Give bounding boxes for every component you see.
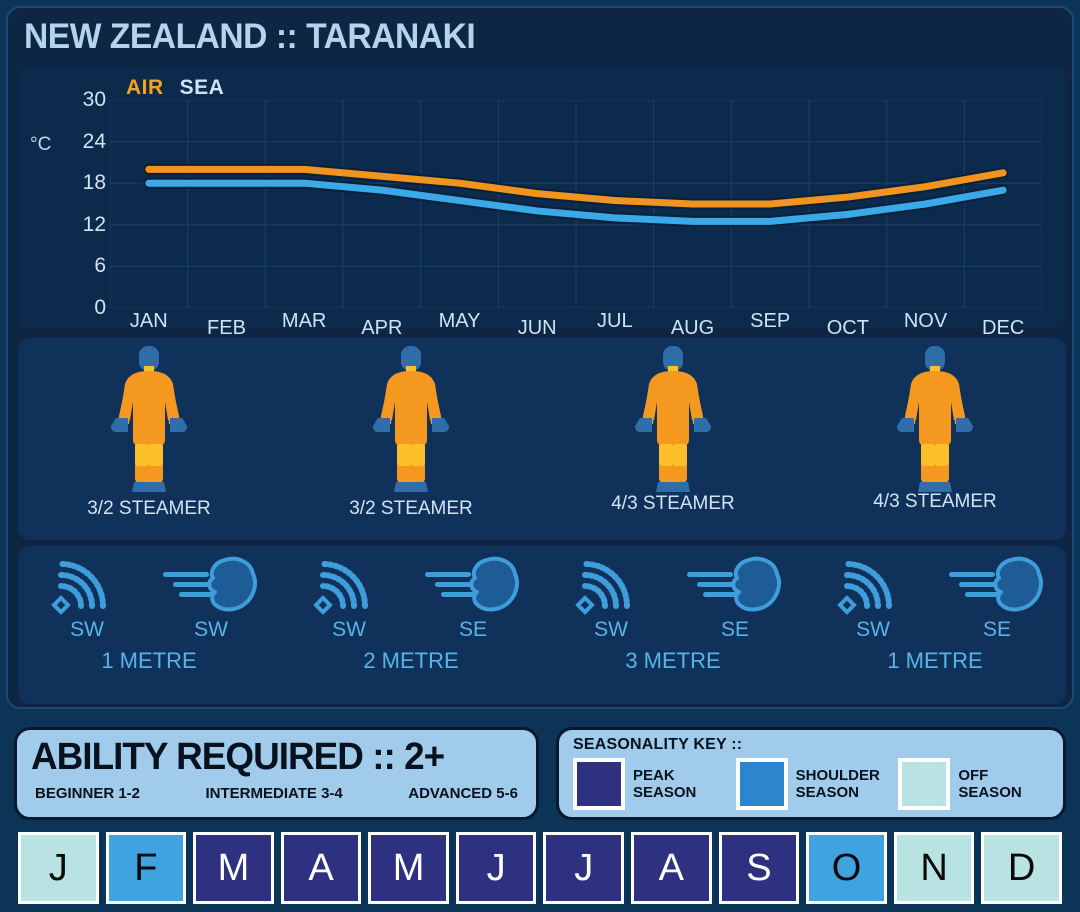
ability-required-box: ABILITY REQUIRED :: 2+ BEGINNER 1-2INTER…: [14, 727, 539, 820]
swell-wind-grid: SWSW1 METRESWSE2 METRESWSE3 METRESWSE1 M…: [18, 546, 1066, 704]
condition-quarter: SWSE2 METRE: [280, 546, 542, 704]
seasonality-key-line1: OFF: [958, 767, 1021, 784]
seasonality-key-line2: SEASON: [633, 784, 696, 801]
infographic-root: NEW ZEALAND :: TARANAKI AIR SEA °C 06121…: [0, 0, 1080, 912]
wetsuit-cell: 3/2 STEAMER: [18, 338, 280, 540]
seasonality-key-text: OFFSEASON: [958, 767, 1021, 802]
seasonality-key-items: PEAKSEASONSHOULDERSEASONOFFSEASON: [573, 758, 1051, 810]
seasonality-key-text: PEAKSEASON: [633, 767, 696, 802]
month-cell-peak[interactable]: J: [456, 832, 537, 904]
x-tick-label: JAN: [130, 310, 168, 333]
wetsuit-figure-icon: [892, 344, 978, 494]
seasonality-key-text: SHOULDERSEASON: [796, 767, 880, 802]
ability-title: ABILITY REQUIRED :: 2+: [31, 736, 507, 779]
swell-waves-icon: [837, 554, 909, 616]
month-cell-peak[interactable]: A: [281, 832, 362, 904]
x-tick-label: NOV: [904, 310, 947, 333]
wind-block: SE: [957, 554, 1037, 642]
chart-x-axis: JANFEBMARAPRMAYJUNJULAUGSEPOCTNOVDEC: [110, 310, 1042, 336]
x-tick-label: JUN: [518, 317, 557, 340]
swell-size-label: 2 METRE: [363, 648, 458, 674]
wetsuit-label: 3/2 STEAMER: [87, 498, 211, 520]
page-title: NEW ZEALAND :: TARANAKI: [24, 17, 475, 57]
swell-size-label: 1 METRE: [887, 648, 982, 674]
y-tick-label: 12: [83, 213, 106, 237]
month-cell-off[interactable]: D: [981, 832, 1062, 904]
wind-block: SE: [695, 554, 775, 642]
month-cell-off[interactable]: N: [894, 832, 975, 904]
swell-waves-icon: [51, 554, 123, 616]
wind-block: SE: [433, 554, 513, 642]
wind-direction-label: SW: [194, 618, 228, 642]
legend-sea-label: SEA: [180, 76, 225, 100]
wetsuit-label: 3/2 STEAMER: [349, 498, 473, 520]
swell-direction-label: SW: [594, 618, 628, 642]
month-season-strip: JFMAMJJASOND: [18, 832, 1062, 904]
swell-direction-label: SW: [70, 618, 104, 642]
wind-direction-label: SE: [983, 618, 1011, 642]
wetsuit-label: 4/3 STEAMER: [873, 491, 997, 513]
month-cell-shoulder[interactable]: F: [106, 832, 187, 904]
condition-quarter: SWSW1 METRE: [18, 546, 280, 704]
x-tick-label: AUG: [671, 317, 714, 340]
seasonality-key-line2: SEASON: [796, 784, 880, 801]
x-tick-label: MAR: [282, 310, 326, 333]
wind-block: SW: [171, 554, 251, 642]
seasonality-key-line2: SEASON: [958, 784, 1021, 801]
wind-cloud-icon: [687, 554, 783, 616]
x-tick-label: SEP: [750, 310, 790, 333]
wetsuit-cell: 4/3 STEAMER: [804, 338, 1066, 540]
swell-waves-icon: [313, 554, 385, 616]
temperature-chart-panel: AIR SEA °C 0612182430 JANFEBMARAPRMAYJUN…: [18, 66, 1066, 328]
x-tick-label: FEB: [207, 317, 246, 340]
ability-level: BEGINNER 1-2: [35, 785, 140, 802]
wetsuit-grid: 3/2 STEAMER3/2 STEAMER4/3 STEAMER4/3 STE…: [18, 338, 1066, 540]
wetsuit-figure-icon: [106, 344, 192, 494]
swell-size-label: 3 METRE: [625, 648, 720, 674]
wetsuit-figure-icon: [630, 344, 716, 494]
wind-cloud-icon: [163, 554, 259, 616]
seasonality-key-item: SHOULDERSEASON: [736, 758, 889, 810]
month-cell-peak[interactable]: M: [193, 832, 274, 904]
wind-cloud-icon: [425, 554, 521, 616]
seasonality-key-item: PEAKSEASON: [573, 758, 726, 810]
seasonality-key-title: SEASONALITY KEY ::: [573, 736, 1051, 754]
main-card: NEW ZEALAND :: TARANAKI AIR SEA °C 06121…: [6, 6, 1074, 709]
title-bar: NEW ZEALAND :: TARANAKI: [8, 8, 1072, 66]
x-tick-label: MAY: [439, 310, 481, 333]
ability-levels: BEGINNER 1-2INTERMEDIATE 3-4ADVANCED 5-6: [31, 785, 522, 802]
month-cell-shoulder[interactable]: O: [806, 832, 887, 904]
wind-direction-label: SE: [459, 618, 487, 642]
legend-air-label: AIR: [126, 76, 164, 100]
y-tick-label: 0: [94, 296, 106, 320]
y-tick-label: 30: [83, 88, 106, 112]
seasonality-swatch: [573, 758, 625, 810]
swell-waves-icon: [575, 554, 647, 616]
swell-size-label: 1 METRE: [101, 648, 196, 674]
wind-direction-label: SE: [721, 618, 749, 642]
swell-direction-label: SW: [332, 618, 366, 642]
x-tick-label: DEC: [982, 317, 1024, 340]
month-cell-peak[interactable]: J: [543, 832, 624, 904]
seasonality-key-item: OFFSEASON: [898, 758, 1051, 810]
wind-cloud-icon: [949, 554, 1045, 616]
x-tick-label: JUL: [597, 310, 633, 333]
seasonality-swatch: [736, 758, 788, 810]
condition-quarter: SWSE3 METRE: [542, 546, 804, 704]
swell-wind-panel: SWSW1 METRESWSE2 METRESWSE3 METRESWSE1 M…: [18, 546, 1066, 704]
y-tick-label: 24: [83, 130, 106, 154]
ability-level: ADVANCED 5-6: [408, 785, 518, 802]
chart-plot-area: [110, 100, 1042, 308]
swell-block: SW: [47, 554, 127, 642]
chart-unit-label: °C: [30, 134, 51, 156]
month-cell-peak[interactable]: M: [368, 832, 449, 904]
condition-quarter: SWSE1 METRE: [804, 546, 1066, 704]
swell-block: SW: [309, 554, 389, 642]
ability-level: INTERMEDIATE 3-4: [206, 785, 343, 802]
x-tick-label: APR: [361, 317, 402, 340]
swell-block: SW: [571, 554, 651, 642]
x-tick-label: OCT: [827, 317, 869, 340]
seasonality-key-box: SEASONALITY KEY :: PEAKSEASONSHOULDERSEA…: [556, 727, 1066, 820]
wetsuit-panel: 3/2 STEAMER3/2 STEAMER4/3 STEAMER4/3 STE…: [18, 338, 1066, 540]
month-cell-off[interactable]: J: [18, 832, 99, 904]
swell-block: SW: [833, 554, 913, 642]
chart-legend: AIR SEA: [126, 76, 224, 100]
wetsuit-label: 4/3 STEAMER: [611, 493, 735, 515]
wetsuit-figure-icon: [368, 344, 454, 494]
wetsuit-cell: 3/2 STEAMER: [280, 338, 542, 540]
chart-y-axis: 0612182430: [70, 100, 106, 308]
month-cell-peak[interactable]: A: [631, 832, 712, 904]
month-cell-peak[interactable]: S: [719, 832, 800, 904]
swell-direction-label: SW: [856, 618, 890, 642]
y-tick-label: 6: [94, 254, 106, 278]
wetsuit-cell: 4/3 STEAMER: [542, 338, 804, 540]
seasonality-key-line1: PEAK: [633, 767, 696, 784]
y-tick-label: 18: [83, 171, 106, 195]
seasonality-swatch: [898, 758, 950, 810]
seasonality-key-line1: SHOULDER: [796, 767, 880, 784]
